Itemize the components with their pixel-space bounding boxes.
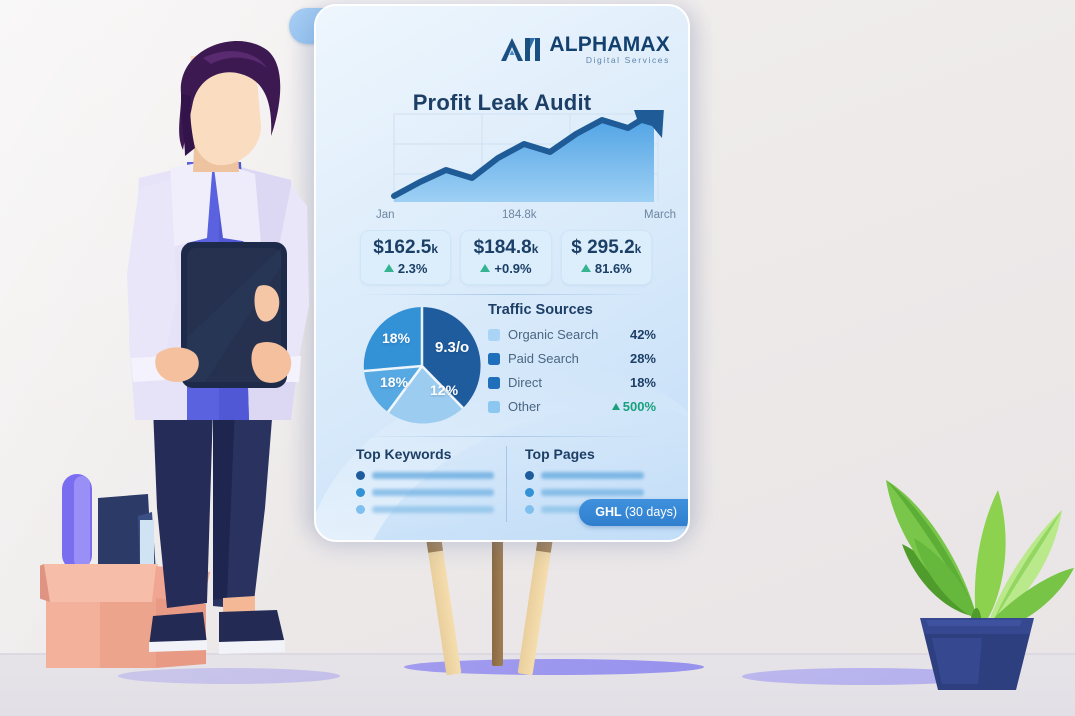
trend-up-icon xyxy=(612,403,620,410)
chart-tick-end: March xyxy=(644,209,676,221)
kpi-amount-3: $ 295.2 xyxy=(571,237,634,258)
top-keywords-title: Top Keywords xyxy=(356,446,494,462)
traffic-legend-title: Traffic Sources xyxy=(488,302,656,318)
bullet-icon xyxy=(356,505,365,514)
legend-value-other: 500% xyxy=(612,399,656,414)
legend-item-other[interactable]: Other 500% xyxy=(488,399,656,414)
bullet-icon xyxy=(525,471,534,480)
bullet-icon xyxy=(525,488,534,497)
redacted-text xyxy=(372,489,494,496)
plant-svg xyxy=(862,452,1075,692)
redacted-text xyxy=(541,489,644,496)
kpi-card-2[interactable]: $184.8k +0.9% xyxy=(460,230,551,285)
legend-value-paid-search: 28% xyxy=(630,351,656,366)
divider-bottom xyxy=(356,436,656,437)
shoe-left-sole xyxy=(149,640,207,652)
coat-lapel-left xyxy=(167,160,213,248)
analyst-figure xyxy=(95,38,345,688)
alphamax-triangle-icon xyxy=(499,35,543,63)
kpi-value-2: $184.8k xyxy=(465,238,546,258)
legend-item-paid-search[interactable]: Paid Search 28% xyxy=(488,351,656,366)
pie-slice-other xyxy=(364,307,422,371)
purple-roll-highlight xyxy=(74,476,90,568)
legend-label-other: Other xyxy=(508,399,612,414)
kpi-amount-2: $184.8 xyxy=(474,237,532,258)
chart-tick-mid: 184.8k xyxy=(502,209,537,221)
brand-logo: ALPHAMAX Digital Services xyxy=(499,34,670,65)
legend-swatch-icon xyxy=(488,377,500,389)
top-pages-title: Top Pages xyxy=(525,446,644,462)
kpi-delta-text-1: 2.3% xyxy=(398,261,428,276)
redacted-text xyxy=(372,472,494,479)
shoe-right-sole xyxy=(219,640,285,654)
kpi-card-row: $162.5k 2.3% $184.8k +0.9% $ 295.2k xyxy=(360,230,652,285)
kpi-unit-2: k xyxy=(532,242,539,256)
kpi-value-3: $ 295.2k xyxy=(566,238,647,258)
list-item[interactable] xyxy=(356,505,494,514)
easel-center-leg xyxy=(492,524,503,666)
bullet-icon xyxy=(356,488,365,497)
kpi-delta-text-3: 81.6% xyxy=(595,261,632,276)
list-item[interactable] xyxy=(356,488,494,497)
list-item[interactable] xyxy=(525,488,644,497)
list-item[interactable] xyxy=(525,471,644,480)
traffic-pie-chart xyxy=(362,305,482,427)
kpi-value-1: $162.5k xyxy=(365,238,446,258)
revenue-area-chart xyxy=(376,110,676,206)
character-svg xyxy=(95,38,345,688)
logo-name: ALPHAMAX xyxy=(549,34,670,55)
trend-up-icon xyxy=(480,264,490,272)
status-badge: GHL (30 days) xyxy=(579,499,690,526)
kpi-unit-3: k xyxy=(635,242,642,256)
divider-top xyxy=(356,294,656,295)
traffic-sources-section: 9.3/o 12% 18% 18% Traffic Sources Organi… xyxy=(356,302,656,434)
bullet-icon xyxy=(356,471,365,480)
illustration-scene: ALPHAMAX Digital Services Profit Leak Au… xyxy=(0,0,1075,716)
legend-swatch-icon xyxy=(488,329,500,341)
legend-label-paid-search: Paid Search xyxy=(508,351,630,366)
kpi-amount-1: $162.5 xyxy=(373,237,431,258)
legend-item-direct[interactable]: Direct 18% xyxy=(488,375,656,390)
kpi-card-3[interactable]: $ 295.2k 81.6% xyxy=(561,230,652,285)
legend-value-organic-search: 42% xyxy=(630,327,656,342)
kpi-delta-3: 81.6% xyxy=(566,261,647,276)
legend-value-direct: 18% xyxy=(630,375,656,390)
chart-axis-tick-labels: Jan 184.8k March xyxy=(376,209,676,221)
potted-plant xyxy=(862,452,1075,692)
presentation-board: ALPHAMAX Digital Services Profit Leak Au… xyxy=(314,4,690,542)
legend-swatch-icon xyxy=(488,353,500,365)
traffic-legend: Traffic Sources Organic Search 42% Paid … xyxy=(488,302,656,423)
kpi-delta-1: 2.3% xyxy=(365,261,446,276)
bullet-icon xyxy=(525,505,534,514)
legend-label-organic-search: Organic Search xyxy=(508,327,630,342)
badge-secondary-label: (30 days) xyxy=(625,505,677,519)
trend-up-icon xyxy=(581,264,591,272)
pot-rim-highlight xyxy=(926,620,1022,626)
legend-swatch-icon xyxy=(488,401,500,413)
trend-up-icon xyxy=(384,264,394,272)
legend-item-organic-search[interactable]: Organic Search 42% xyxy=(488,327,656,342)
logo-tagline: Digital Services xyxy=(549,56,670,65)
list-item[interactable] xyxy=(356,471,494,480)
legend-label-direct: Direct xyxy=(508,375,630,390)
chart-tick-start: Jan xyxy=(376,209,395,221)
legend-value-other-text: 500% xyxy=(623,399,656,414)
chart-svg xyxy=(376,110,676,206)
top-keywords-column: Top Keywords xyxy=(356,446,506,522)
redacted-text xyxy=(372,506,494,513)
badge-primary-label: GHL xyxy=(595,505,621,519)
kpi-delta-text-2: +0.9% xyxy=(494,261,531,276)
kpi-card-1[interactable]: $162.5k 2.3% xyxy=(360,230,451,285)
kpi-delta-2: +0.9% xyxy=(465,261,546,276)
redacted-text xyxy=(541,472,644,479)
pants-left xyxy=(153,408,213,608)
kpi-unit-1: k xyxy=(431,242,438,256)
